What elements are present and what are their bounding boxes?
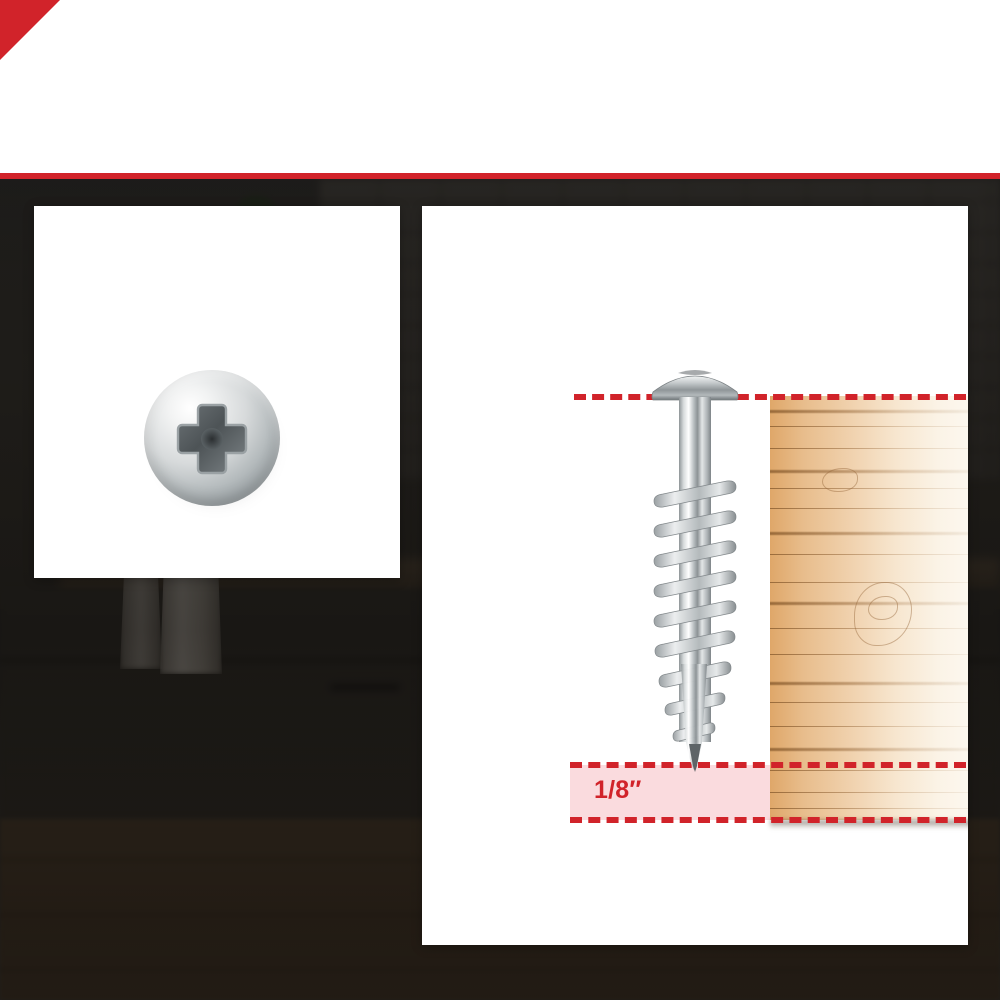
- tabletop-top-surface-dashed-line: [574, 394, 966, 400]
- screw-tip-depth-dashed-line: [570, 762, 966, 768]
- header-red-rule: [0, 173, 1000, 179]
- phillips-cross-recess-icon: [176, 403, 248, 475]
- header-band: [0, 0, 1000, 173]
- phillips-pan-head-screw-top-view-icon: [142, 370, 287, 515]
- tabletop-bottom-surface-dashed-line: [570, 817, 966, 823]
- measurement-label: 1/8″: [594, 776, 642, 805]
- screw-recommendations-infographic: SCREW RECOMMENDATIONS FOR WOOD SURFACES …: [0, 0, 1000, 1000]
- pan-head-wood-screw-side-view-icon: [637, 364, 753, 784]
- maple-tabletop-cross-section-icon: [770, 396, 968, 820]
- screw-depth-diagram: 1/8″: [422, 206, 968, 945]
